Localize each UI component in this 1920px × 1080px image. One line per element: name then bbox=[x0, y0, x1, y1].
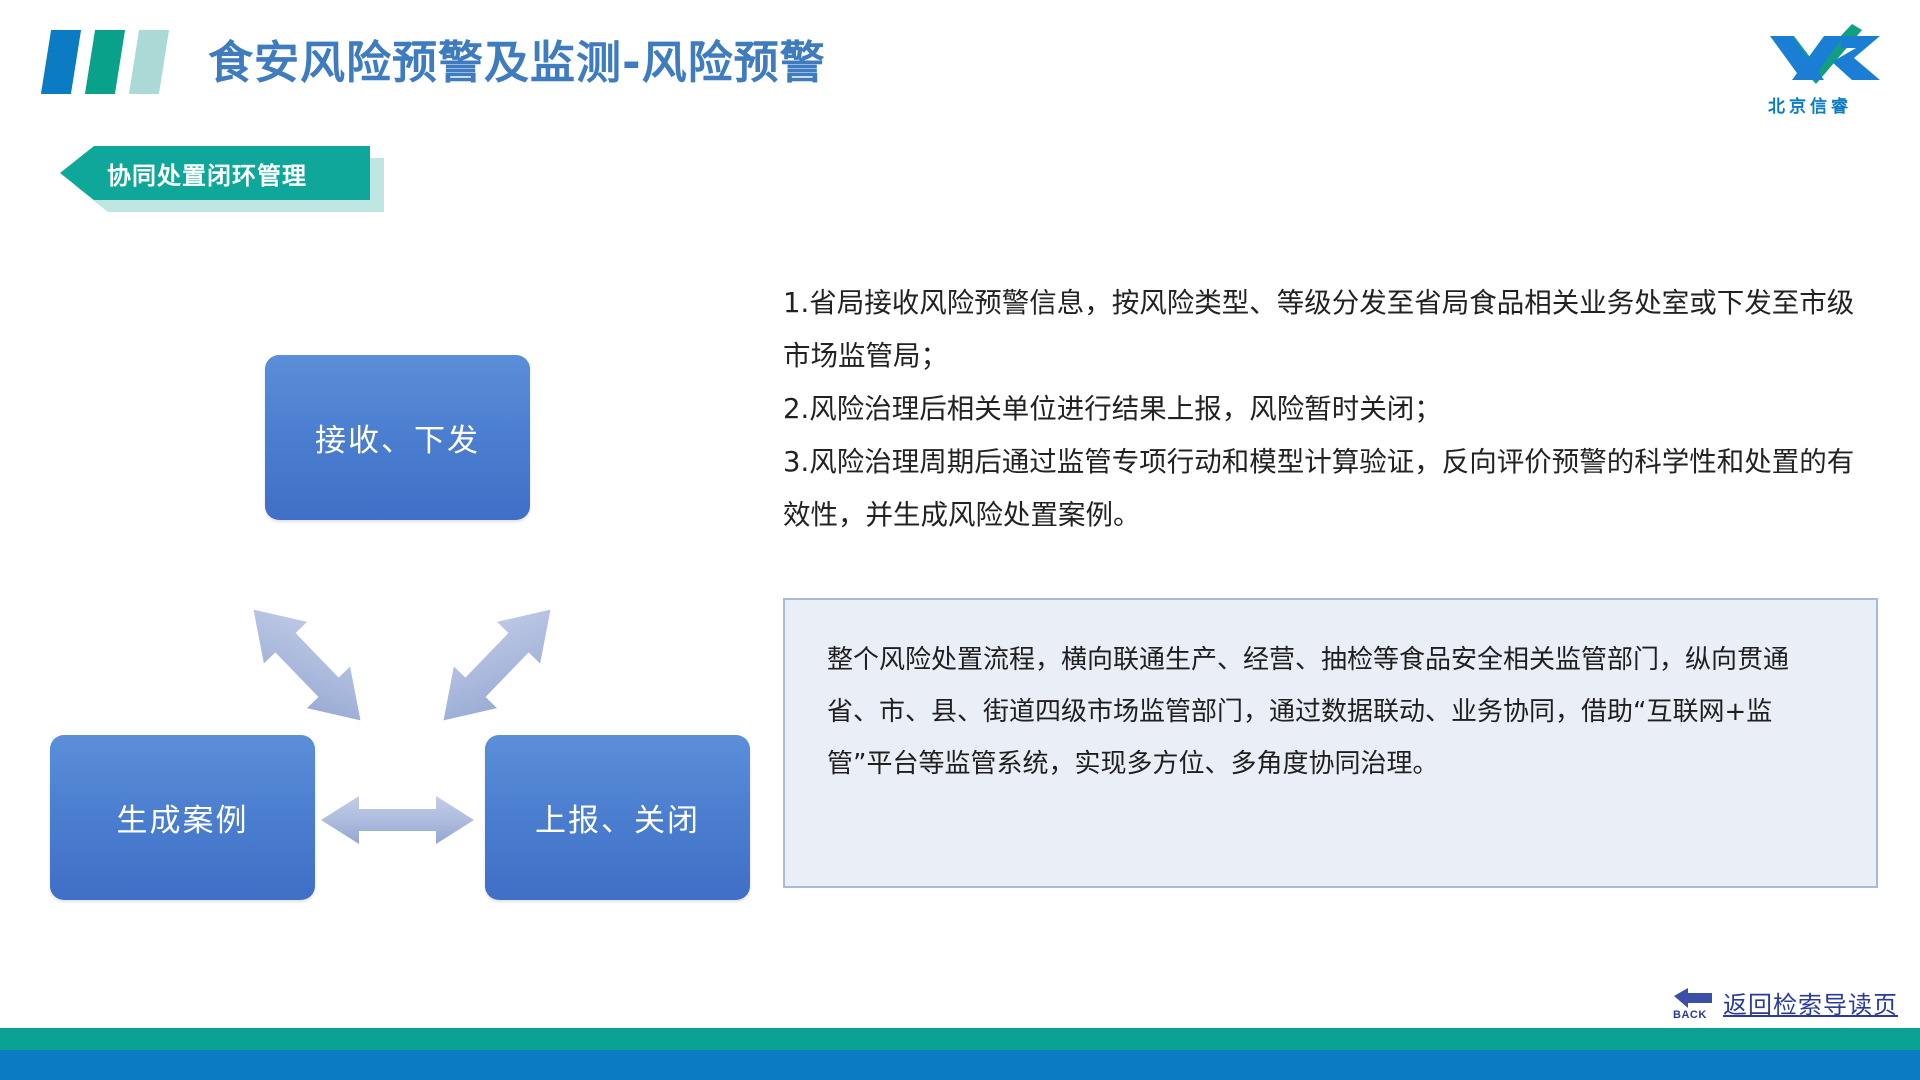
diagram-node-receive-label: 接收、下发 bbox=[315, 415, 480, 460]
diagram-node-report[interactable]: 上报、关闭 bbox=[485, 735, 750, 900]
diagram-node-generate-label: 生成案例 bbox=[117, 795, 249, 840]
xr-logo-icon bbox=[1720, 18, 1900, 90]
diagram-arrow-receive-report bbox=[415, 580, 580, 750]
note-item-1: 1.省局接收风险预警信息，按风险类型、等级分发至省局食品相关业务处室或下发至市级… bbox=[783, 277, 1878, 383]
header-bar-green-icon bbox=[85, 30, 125, 94]
section-banner-arrow: 协同处置闭环管理 bbox=[60, 146, 370, 200]
note-item-3: 3.风险治理周期后通过监管专项行动和模型计算验证，反向评价预警的科学性和处置的有… bbox=[783, 436, 1878, 542]
header-bar-blue-icon bbox=[41, 30, 81, 94]
process-diagram: 接收、下发 生成案例 上报、关闭 bbox=[0, 250, 790, 910]
page-title: 食安风险预警及监测-风险预警 bbox=[208, 26, 826, 91]
notes-list: 1.省局接收风险预警信息，按风险类型、等级分发至省局食品相关业务处室或下发至市级… bbox=[783, 277, 1878, 542]
diagram-node-receive[interactable]: 接收、下发 bbox=[265, 355, 530, 520]
section-banner-label: 协同处置闭环管理 bbox=[107, 156, 307, 191]
header-accent-bars bbox=[46, 30, 176, 94]
back-to-index-link[interactable]: BACK 返回检索导读页 bbox=[1672, 985, 1898, 1020]
back-link-label[interactable]: 返回检索导读页 bbox=[1723, 985, 1898, 1020]
summary-callout-text: 整个风险处置流程，横向联通生产、经营、抽检等食品安全相关监管部门，纵向贯通省、市… bbox=[827, 634, 1836, 790]
footer-stripe-blue bbox=[0, 1050, 1920, 1080]
summary-callout-box: 整个风险处置流程，横向联通生产、经营、抽检等食品安全相关监管部门，纵向贯通省、市… bbox=[783, 598, 1878, 888]
diagram-node-report-label: 上报、关闭 bbox=[535, 795, 700, 840]
brand-logo: 北京信睿 bbox=[1720, 18, 1900, 118]
slide-root: 食安风险预警及监测-风险预警 北京信睿 协同处置闭环管理 接收、下发 生成案例 bbox=[0, 0, 1920, 1080]
note-item-2: 2.风险治理后相关单位进行结果上报，风险暂时关闭； bbox=[783, 383, 1878, 436]
footer-stripe-teal bbox=[0, 1028, 1920, 1050]
header-bar-light-teal-icon bbox=[129, 30, 169, 94]
diagram-node-generate[interactable]: 生成案例 bbox=[50, 735, 315, 900]
section-banner: 协同处置闭环管理 bbox=[60, 146, 460, 216]
back-icon-label: BACK bbox=[1673, 1009, 1707, 1021]
brand-name: 北京信睿 bbox=[1720, 92, 1900, 117]
back-arrow-icon: BACK bbox=[1672, 987, 1714, 1019]
diagram-arrow-receive-generate bbox=[225, 580, 390, 750]
diagram-arrow-generate-report bbox=[315, 780, 480, 860]
